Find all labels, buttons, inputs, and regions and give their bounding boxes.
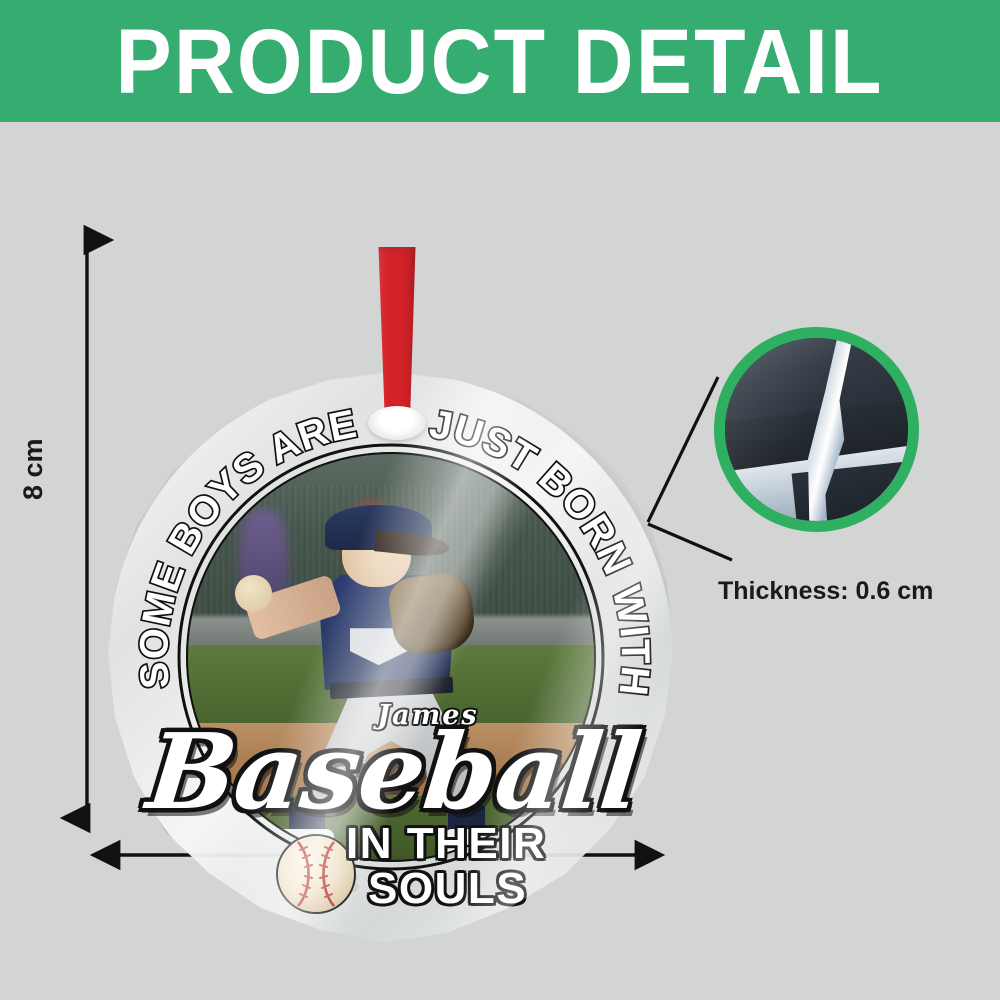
glass-ornament: SOME BOYS ARE JUST BORN WITH James Baseb… <box>108 372 673 942</box>
page-title: PRODUCT DETAIL <box>116 7 884 114</box>
ribbon-grommet-hole <box>368 406 426 440</box>
product-canvas: SOME BOYS ARE JUST BORN WITH James Baseb… <box>0 122 1000 1000</box>
height-dimension-label: 8 cm <box>18 438 49 500</box>
header-banner: PRODUCT DETAIL <box>0 0 1000 122</box>
arc-text-right: JUST BORN WITH <box>426 402 657 698</box>
arc-text-ring: SOME BOYS ARE JUST BORN WITH <box>108 372 673 942</box>
thickness-label: Thickness: 0.6 cm <box>718 577 978 606</box>
thickness-magnifier <box>714 327 919 532</box>
arc-text-left: SOME BOYS ARE <box>132 402 361 691</box>
magnifier-sheen <box>725 338 908 521</box>
product-detail-image: PRODUCT DETAIL <box>0 0 1000 1000</box>
